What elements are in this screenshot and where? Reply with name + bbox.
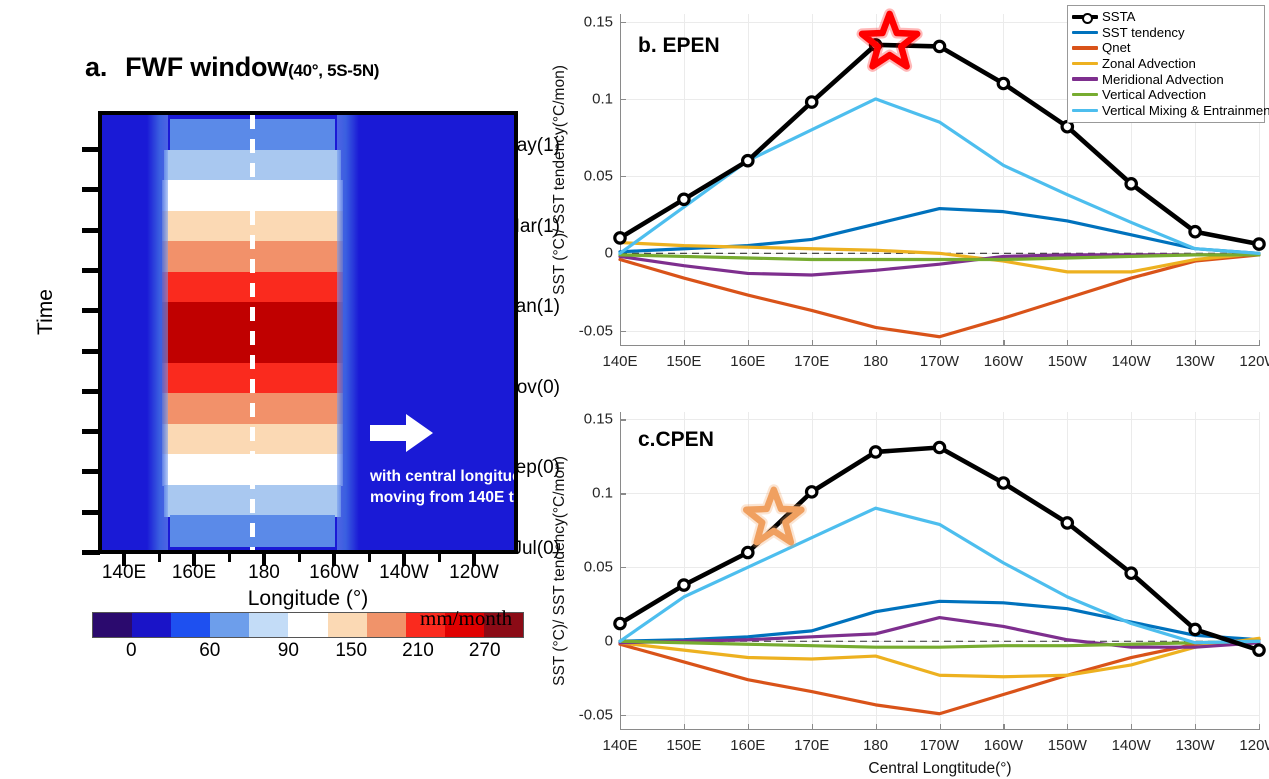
colorbar-segment (171, 613, 210, 637)
colorbar-units-label: mm/month (420, 606, 512, 631)
panel-a-x-tick-mark (122, 554, 126, 566)
data-point-marker (1254, 239, 1264, 249)
legend-item-label: Zonal Advection (1102, 57, 1196, 70)
legend-item[interactable]: Qnet (1072, 40, 1260, 56)
legend-color-swatch (1072, 9, 1098, 24)
x-tick-label: 140E (602, 737, 637, 754)
colorbar-segment (249, 613, 288, 637)
x-tick-label: 180 (863, 353, 888, 370)
x-tick-label: 150E (666, 353, 701, 370)
colorbar-tick-label: 0 (126, 640, 137, 662)
legend-color-swatch (1072, 40, 1098, 55)
colorbar-tick-label: 90 (278, 640, 299, 662)
x-tick-label: 160E (730, 737, 765, 754)
legend-item-label: Vertical Advection (1102, 88, 1206, 101)
series-line (620, 601, 1259, 641)
data-point-marker (615, 618, 625, 628)
panel-a-fwf-window: a.FWF window(40°, 5S-5N) Time May(1)Mar(… (0, 0, 560, 779)
panel-a-y-minor-tick (82, 349, 98, 354)
data-point-marker (998, 478, 1008, 488)
y-axis-label: SST (°C)/ SST tendency(°C/mon) (551, 456, 569, 686)
series-line (620, 447, 1259, 650)
panel-a-y-minor-tick (82, 187, 98, 192)
data-point-marker (1190, 227, 1200, 237)
colorbar-tick-label: 150 (335, 640, 367, 662)
y-tick-label: 0.05 (584, 168, 613, 185)
right-arrow-icon (370, 412, 434, 454)
data-point-marker (1062, 518, 1072, 528)
colorbar-segment (328, 613, 367, 637)
y-tick-label: 0.05 (584, 559, 613, 576)
legend-item[interactable]: Meridional Advection (1072, 71, 1260, 87)
panel-a-title-text: FWF window (125, 52, 288, 82)
y-tick-label: -0.05 (579, 707, 613, 724)
legend-item[interactable]: Vertical Advection (1072, 87, 1260, 103)
panel-a-x-minor-tick (228, 554, 231, 562)
panel-a-subtitle: (40°, 5S-5N) (288, 61, 379, 80)
data-point-marker (870, 447, 880, 457)
y-axis-label: SST (°C)/ SST tendency(°C/mon) (551, 65, 569, 295)
x-tick-label: 170E (794, 737, 829, 754)
data-point-marker (679, 194, 689, 204)
annotation-line-1: with central longitude (370, 467, 518, 488)
x-tick-label: 160E (730, 353, 765, 370)
panel-a-x-minor-tick (158, 554, 161, 562)
panel-c-cpen-chart: c.CPEN 0.150.10.050-0.05140E150E160E170E… (620, 412, 1260, 730)
legend-item[interactable]: SSTA (1072, 9, 1260, 25)
legend-item-label: SST tendency (1102, 26, 1185, 39)
legend-marker-icon (1082, 13, 1093, 24)
figure-root: a.FWF window(40°, 5S-5N) Time May(1)Mar(… (0, 0, 1269, 779)
legend-item[interactable]: Vertical Mixing & Entrainment (1072, 103, 1260, 119)
y-tick-label: 0.1 (592, 485, 613, 502)
data-point-marker (807, 97, 817, 107)
legend-item-label: Meridional Advection (1102, 73, 1224, 86)
data-point-marker (1126, 179, 1136, 189)
y-tick-label: 0 (605, 245, 613, 262)
center-longitude-dashed-line (250, 115, 255, 550)
x-tick-label: 150W (1048, 737, 1087, 754)
panel-a-x-minor-tick (438, 554, 441, 562)
heatmap-edge-gradient-right (337, 115, 360, 550)
x-tick-label: 120W (1239, 737, 1269, 754)
legend-item-label: Qnet (1102, 41, 1131, 54)
data-point-marker (743, 155, 753, 165)
panel-a-x-tick-mark (192, 554, 196, 566)
x-tick-label: 170E (794, 353, 829, 370)
legend-line (1072, 109, 1098, 112)
x-tick-label: 130W (1176, 737, 1215, 754)
colorbar-tick-label: 270 (469, 640, 501, 662)
colorbar-segment (132, 613, 171, 637)
panel-a-label: a. (85, 52, 107, 82)
legend-item-label: SSTA (1102, 10, 1135, 23)
x-tick-label: 160W (984, 737, 1023, 754)
panel-a-y-minor-tick (82, 268, 98, 273)
legend-line (1072, 31, 1098, 34)
legend-item[interactable]: SST tendency (1072, 25, 1260, 41)
legend-item-label: Vertical Mixing & Entrainment (1102, 104, 1269, 117)
legend-color-swatch (1072, 56, 1098, 71)
data-point-marker (743, 547, 753, 557)
panel-a-x-minor-tick (368, 554, 371, 562)
panel-a-y-minor-tick (82, 429, 98, 434)
legend-line (1072, 62, 1098, 65)
panel-a-x-tick-mark (262, 554, 266, 566)
series-line (620, 508, 1259, 643)
data-point-marker (679, 580, 689, 590)
y-tick-label: 0 (605, 633, 613, 650)
heatmap-edge-gradient-left (147, 115, 168, 550)
y-tick-label: -0.05 (579, 322, 613, 339)
panel-b-title: b. EPEN (638, 34, 720, 58)
x-tick-label: 130W (1176, 353, 1215, 370)
series-canvas (620, 412, 1260, 730)
x-tick-label: 180 (863, 737, 888, 754)
panel-a-title: a.FWF window(40°, 5S-5N) (85, 52, 485, 92)
panel-a-y-minor-tick (82, 510, 98, 515)
data-point-marker (615, 233, 625, 243)
series-line (620, 255, 1259, 260)
y-tick-label: 0.15 (584, 13, 613, 30)
colorbar-segment (93, 613, 132, 637)
legend-item[interactable]: Zonal Advection (1072, 56, 1260, 72)
data-point-marker (1190, 624, 1200, 634)
data-point-marker (934, 41, 944, 51)
panel-c-title: c.CPEN (638, 428, 714, 452)
x-tick-label: 150E (666, 737, 701, 754)
legend-line (1072, 77, 1098, 80)
panel-a-hovmoller-heatmap: with central longitude moving from 140E … (98, 111, 518, 554)
legend-color-swatch (1072, 103, 1098, 118)
x-tick-label: 150W (1048, 353, 1087, 370)
y-tick-label: 0.15 (584, 411, 613, 428)
data-point-marker (934, 442, 944, 452)
data-point-marker (1126, 568, 1136, 578)
colorbar-tick-label: 210 (402, 640, 434, 662)
y-tick-label: 0.1 (592, 90, 613, 107)
colorbar-segment (288, 613, 327, 637)
data-point-marker (807, 487, 817, 497)
data-point-marker (1254, 645, 1264, 655)
x-tick-label: 170W (920, 737, 959, 754)
colorbar-segment (210, 613, 249, 637)
panel-a-x-tick-mark (402, 554, 406, 566)
panel-a-x-tick-mark (332, 554, 336, 566)
x-tick-label: 140W (1112, 737, 1151, 754)
annotation-line-2: moving from 140E to 120W (370, 488, 518, 509)
legend-color-swatch (1072, 72, 1098, 87)
panel-a-annotation-text: with central longitude moving from 140E … (370, 467, 518, 509)
x-tick-label: 170W (920, 353, 959, 370)
x-tick-label: 140E (602, 353, 637, 370)
legend-color-swatch (1072, 87, 1098, 102)
x-axis-label: Central Longtitude(°) (868, 760, 1011, 778)
panel-a-x-tick-mark (472, 554, 476, 566)
colorbar-tick-label: 60 (199, 640, 220, 662)
data-point-marker (998, 78, 1008, 88)
legend-color-swatch (1072, 25, 1098, 40)
x-tick-label: 160W (984, 353, 1023, 370)
series-legend: SSTASST tendencyQnetZonal AdvectionMerid… (1067, 5, 1265, 123)
x-tick-label: 120W (1239, 353, 1269, 370)
x-tick-label: 140W (1112, 353, 1151, 370)
panel-a-y-axis-label: Time (34, 252, 58, 372)
panel-a-x-minor-tick (298, 554, 301, 562)
legend-line (1072, 93, 1098, 96)
colorbar-segment (367, 613, 406, 637)
legend-line (1072, 46, 1098, 49)
